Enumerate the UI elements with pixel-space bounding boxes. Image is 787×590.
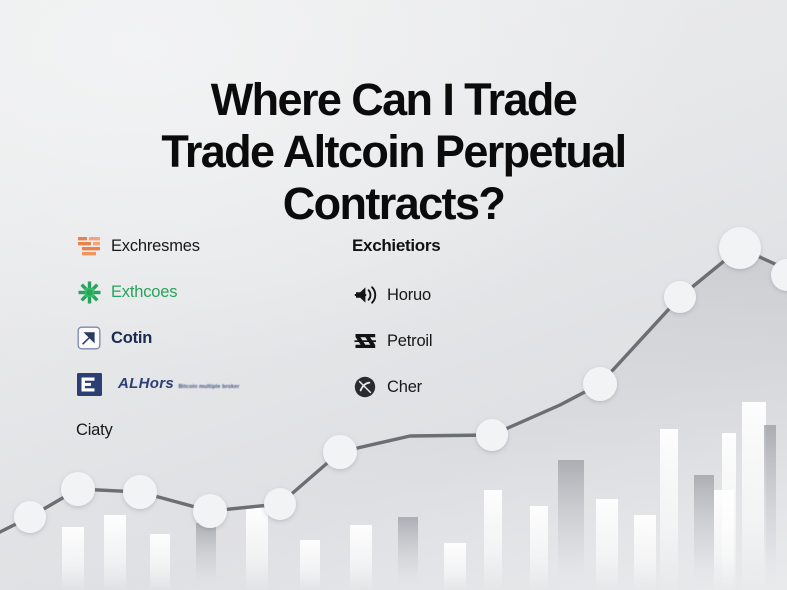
- chart-bar: [300, 540, 320, 590]
- navy-square-diagonal-icon: [76, 325, 102, 351]
- chart-bar: [722, 433, 736, 590]
- list-item-exchresmes[interactable]: Exchresmes: [76, 232, 316, 260]
- speaker-icon: [352, 282, 378, 308]
- chart-bar: [104, 515, 126, 590]
- chart-bar: [660, 429, 678, 590]
- chart-marker: [583, 367, 617, 401]
- chart-marker: [193, 494, 227, 528]
- chart-bar: [62, 527, 84, 590]
- chart-bar: [246, 508, 268, 590]
- green-snowflake-icon: [76, 279, 102, 305]
- list-item-label: Exthcoes: [111, 283, 177, 302]
- bold-z-monogram-icon: [352, 328, 378, 354]
- list-item-cotin[interactable]: Cotin: [76, 324, 316, 352]
- list-item-label: Exchresmes: [111, 237, 200, 256]
- exchange-list-right: Exchietiors Horuo: [352, 232, 572, 419]
- chart-bar: [350, 525, 372, 590]
- chart-marker: [264, 488, 296, 520]
- list-item-petroil[interactable]: Petroil: [352, 327, 572, 355]
- navy-badge-e-icon: [76, 371, 102, 397]
- chart-bar: [634, 515, 656, 590]
- chart-bar: [484, 490, 502, 590]
- list-item-label: Horuo: [387, 286, 431, 305]
- chart-marker: [719, 227, 761, 269]
- chart-bar: [742, 402, 766, 590]
- dark-circle-slash-icon: [352, 374, 378, 400]
- list-item-alhors[interactable]: ALHors Bitcoin multiple broker: [76, 370, 316, 398]
- list-item-label: Cher: [387, 378, 422, 397]
- list-item-ciaty[interactable]: Ciaty: [76, 416, 316, 444]
- chart-marker: [323, 435, 357, 469]
- list-item-label: Cotin: [111, 329, 152, 348]
- exchange-list-right-heading: Exchietiors: [352, 232, 572, 260]
- chart-marker: [14, 501, 46, 533]
- list-heading-label: Exchietiors: [352, 236, 440, 256]
- chart-marker: [123, 475, 157, 509]
- orange-bars-icon: [76, 233, 102, 259]
- chart-bar: [196, 523, 216, 590]
- chart-marker: [61, 472, 95, 506]
- list-item-exthcoes[interactable]: Exthcoes: [76, 278, 316, 306]
- list-item-label: Petroil: [387, 332, 432, 351]
- list-item-cher[interactable]: Cher: [352, 373, 572, 401]
- list-item-horuo[interactable]: Horuo: [352, 281, 572, 309]
- list-item-subtitle: Bitcoin multiple broker: [178, 384, 239, 390]
- chart-bar: [530, 506, 548, 590]
- chart-marker: [664, 281, 696, 313]
- chart-bar: [694, 475, 714, 590]
- chart-bar: [558, 460, 584, 590]
- chart-bar: [764, 425, 776, 590]
- list-item-label: Ciaty: [76, 421, 113, 440]
- chart-bar: [596, 499, 618, 590]
- chart-bar: [444, 543, 466, 590]
- chart-bar: [150, 534, 170, 590]
- chart-bar: [398, 517, 418, 590]
- chart-marker: [476, 419, 508, 451]
- poster-canvas: Where Can I Trade Trade Altcoin Perpetua…: [0, 0, 787, 590]
- exchange-list-left: Exchresmes Exthcoes: [76, 232, 316, 462]
- list-item-label: ALHors: [118, 375, 174, 392]
